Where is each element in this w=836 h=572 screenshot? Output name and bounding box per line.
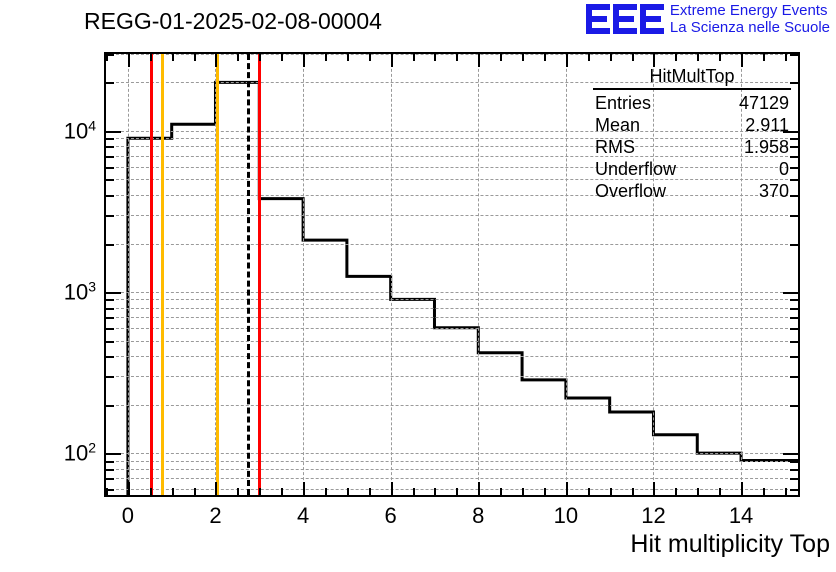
stats-rows: Entries47129Mean2.911RMS1.958Underflow0O…: [589, 92, 795, 202]
gridline-horizontal: [106, 308, 798, 309]
axis-tick: [106, 469, 114, 471]
axis-tick: [106, 299, 114, 301]
axis-tick: [610, 488, 612, 495]
stats-row: Entries47129: [589, 92, 795, 114]
stats-row-key: Entries: [595, 92, 651, 114]
axis-tick: [790, 54, 798, 56]
axis-tick: [106, 328, 114, 330]
x-tick-label: 10: [554, 503, 578, 529]
axis-tick: [106, 138, 114, 140]
axis-tick: [741, 482, 743, 495]
axis-tick: [588, 54, 590, 61]
axis-tick: [106, 356, 114, 358]
axis-tick: [790, 341, 798, 343]
gridline-horizontal: [106, 299, 798, 300]
axis-tick: [128, 54, 130, 67]
axis-tick: [719, 488, 721, 495]
axis-tick: [478, 482, 480, 495]
axis-tick: [106, 179, 114, 181]
axis-tick: [434, 488, 436, 495]
axis-tick: [106, 489, 114, 491]
axis-tick: [675, 54, 677, 61]
axis-tick: [303, 482, 305, 495]
axis-tick: [106, 54, 114, 56]
stats-row-value: 1.958: [744, 136, 789, 158]
axis-tick: [763, 54, 765, 61]
gridline-vertical: [566, 54, 567, 495]
stats-box: HitMultTop Entries47129Mean2.911RMS1.958…: [589, 66, 795, 202]
y-tick-label: 104: [64, 117, 96, 144]
eee-logo-text: Extreme Energy Events La Scienza nelle S…: [670, 2, 830, 36]
axis-tick: [632, 54, 634, 61]
axis-tick: [456, 54, 458, 61]
gridline-horizontal: [106, 317, 798, 318]
axis-tick: [413, 54, 415, 61]
axis-tick: [237, 54, 239, 61]
axis-tick: [544, 54, 546, 61]
axis-tick: [106, 156, 114, 158]
axis-tick: [106, 146, 114, 148]
axis-tick: [566, 482, 568, 495]
x-tick-label: 14: [729, 503, 753, 529]
eee-logo-line2: La Scienza nelle Scuole: [670, 19, 830, 36]
axis-tick: [215, 54, 217, 67]
stats-row-value: 2.911: [745, 114, 789, 136]
gridline-vertical: [478, 54, 479, 495]
axis-tick: [790, 376, 798, 378]
axis-tick: [391, 54, 393, 67]
axis-tick: [790, 328, 798, 330]
axis-tick: [347, 54, 349, 61]
gridline-horizontal: [106, 469, 798, 470]
stats-row-value: 47129: [739, 92, 789, 114]
axis-tick: [785, 488, 787, 495]
gridline-horizontal: [106, 292, 798, 293]
axis-tick: [215, 482, 217, 495]
axis-tick: [194, 488, 196, 495]
axis-tick: [391, 482, 393, 495]
axis-tick: [790, 478, 798, 480]
axis-tick: [783, 292, 798, 294]
axis-tick: [172, 488, 174, 495]
axis-tick: [500, 54, 502, 61]
x-tick-label: 0: [122, 503, 134, 529]
stats-row: RMS1.958: [589, 136, 795, 158]
axis-tick: [610, 54, 612, 61]
stats-row-value: 370: [759, 180, 789, 202]
axis-tick: [106, 292, 121, 294]
axis-tick: [790, 299, 798, 301]
axis-tick: [325, 54, 327, 61]
marker-orange-line-left: [161, 54, 164, 495]
axis-tick: [522, 488, 524, 495]
axis-tick: [697, 54, 699, 61]
axis-tick: [632, 488, 634, 495]
axis-tick: [106, 215, 114, 217]
axis-tick: [106, 308, 114, 310]
axis-tick: [783, 453, 798, 455]
y-tick-label: 103: [64, 278, 96, 305]
axis-tick: [106, 341, 114, 343]
page-title: REGG-01-2025-02-08-00004: [84, 8, 382, 35]
axis-tick: [763, 488, 765, 495]
axis-tick: [500, 488, 502, 495]
axis-tick: [106, 461, 114, 463]
gridline-horizontal: [106, 478, 798, 479]
axis-tick: [303, 54, 305, 67]
axis-tick: [194, 54, 196, 61]
gridline-horizontal: [106, 341, 798, 342]
axis-tick: [150, 488, 152, 495]
gridline-horizontal: [106, 461, 798, 462]
axis-tick: [347, 488, 349, 495]
x-tick-label: 12: [641, 503, 665, 529]
stats-row: Underflow0: [589, 158, 795, 180]
marker-red-line-left: [150, 54, 153, 495]
stats-row-key: Overflow: [595, 180, 666, 202]
stats-row-key: RMS: [595, 136, 635, 158]
axis-tick: [281, 54, 283, 61]
axis-tick: [544, 488, 546, 495]
axis-tick: [106, 82, 114, 84]
gridline-vertical: [128, 54, 129, 495]
axis-tick: [588, 488, 590, 495]
axis-tick: [478, 54, 480, 67]
eee-logo-line1: Extreme Energy Events: [670, 2, 830, 19]
axis-tick: [790, 215, 798, 217]
gridline-horizontal: [106, 356, 798, 357]
axis-tick: [259, 54, 261, 61]
axis-tick: [653, 482, 655, 495]
marker-red-line-right: [258, 54, 261, 495]
marker-orange-line-mid: [216, 54, 219, 495]
x-tick-label: 4: [297, 503, 309, 529]
axis-tick: [369, 488, 371, 495]
axis-tick: [106, 376, 114, 378]
axis-tick: [128, 482, 130, 495]
eee-letter-e3: [640, 4, 664, 34]
axis-tick: [325, 488, 327, 495]
gridline-horizontal: [106, 54, 798, 55]
axis-tick: [106, 195, 114, 197]
axis-tick: [790, 489, 798, 491]
axis-tick: [237, 488, 239, 495]
axis-tick: [790, 461, 798, 463]
axis-tick: [259, 488, 261, 495]
stats-title: HitMultTop: [593, 66, 791, 90]
axis-tick: [106, 244, 114, 246]
stats-row: Overflow370: [589, 180, 795, 202]
axis-tick: [281, 488, 283, 495]
marker-black-dashed-line: [247, 54, 250, 495]
eee-logo-mark: [586, 4, 664, 34]
y-tick-label: 102: [64, 439, 96, 466]
stats-row-key: Mean: [595, 114, 640, 136]
axis-tick: [522, 54, 524, 61]
x-axis-title: Hit multiplicity Top: [630, 530, 830, 559]
stats-row-value: 0: [779, 158, 789, 180]
gridline-horizontal: [106, 453, 798, 454]
axis-tick: [106, 167, 114, 169]
gridline-horizontal: [106, 328, 798, 329]
eee-logo: Extreme Energy Events La Scienza nelle S…: [586, 2, 830, 36]
axis-tick: [697, 488, 699, 495]
axis-tick: [106, 405, 114, 407]
axis-tick: [456, 488, 458, 495]
axis-tick: [719, 54, 721, 61]
gridline-horizontal: [106, 244, 798, 245]
axis-tick: [790, 308, 798, 310]
axis-tick: [675, 488, 677, 495]
axis-tick: [785, 54, 787, 61]
axis-tick: [434, 54, 436, 61]
eee-letter-e2: [613, 4, 637, 34]
axis-tick: [106, 131, 121, 133]
axis-tick: [106, 317, 114, 319]
gridline-vertical: [303, 54, 304, 495]
eee-letter-e1: [586, 4, 610, 34]
axis-tick: [790, 244, 798, 246]
gridline-vertical: [391, 54, 392, 495]
axis-tick: [790, 356, 798, 358]
x-tick-label: 8: [472, 503, 484, 529]
axis-tick: [106, 478, 114, 480]
axis-tick: [413, 488, 415, 495]
stats-row: Mean2.911: [589, 114, 795, 136]
axis-tick: [106, 453, 121, 455]
gridline-horizontal: [106, 405, 798, 406]
stats-row-key: Underflow: [595, 158, 676, 180]
x-tick-label: 6: [385, 503, 397, 529]
gridline-horizontal: [106, 376, 798, 377]
axis-tick: [369, 54, 371, 61]
gridline-horizontal: [106, 215, 798, 216]
axis-tick: [790, 405, 798, 407]
axis-tick: [150, 54, 152, 61]
axis-tick: [790, 469, 798, 471]
axis-tick: [172, 54, 174, 61]
axis-tick: [790, 317, 798, 319]
gridline-horizontal: [106, 489, 798, 490]
x-tick-label: 2: [209, 503, 221, 529]
axis-tick: [566, 54, 568, 67]
